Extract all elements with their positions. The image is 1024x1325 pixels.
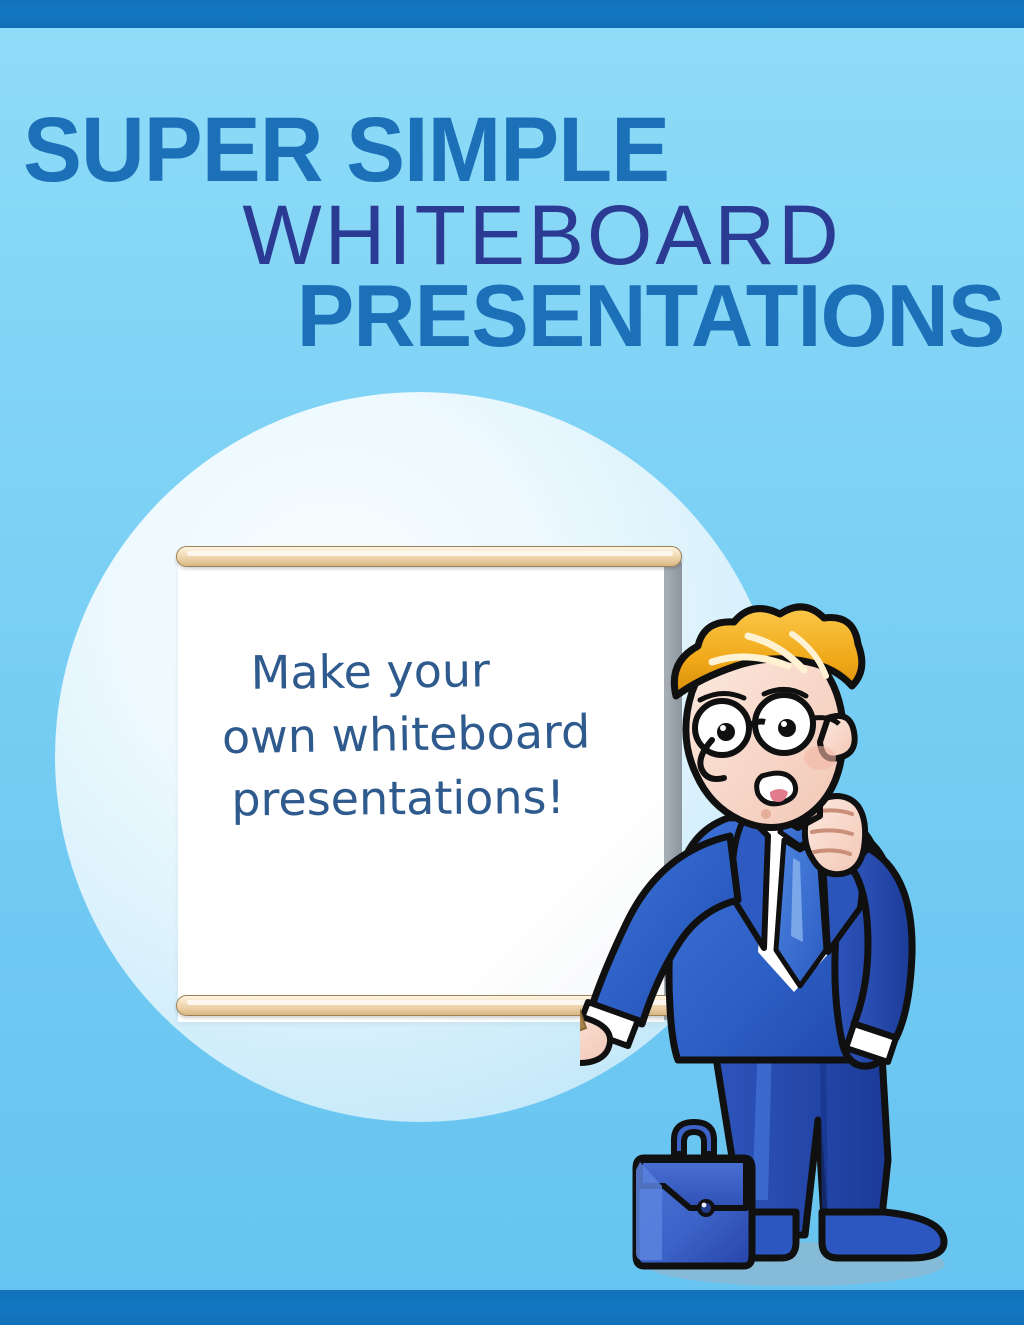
shoe-right [822, 1212, 944, 1258]
handwriting-line-2: own whiteboard [222, 700, 623, 770]
bottom-band [0, 1290, 1024, 1325]
title-line-whiteboard: WHITEBOARD [0, 197, 1024, 274]
eye-left-glint [720, 725, 726, 731]
briefcase-clasp-glint [702, 1203, 707, 1208]
handwriting-line-1: Make your [220, 638, 621, 706]
cover-title: SUPER SIMPLE WHITEBOARD PRESENTATIONS [0, 108, 1024, 357]
briefcase-handle [674, 1122, 714, 1154]
rail-highlight [187, 551, 673, 556]
pointer-stick [580, 600, 586, 1034]
cheek-blush [804, 746, 836, 770]
briefcase-clasp [699, 1201, 713, 1215]
title-line-presentations: PRESENTATIONS [20, 276, 1024, 357]
title-line-super-simple: SUPER SIMPLE [0, 108, 983, 193]
whiteboard-handwriting: Make your own whiteboard presentations! [220, 636, 624, 835]
chin-dimple [761, 809, 771, 819]
handwriting-line-3: presentations! [223, 766, 623, 832]
top-band [0, 0, 1024, 28]
cover-page: SUPER SIMPLE WHITEBOARD PRESENTATIONS Ma… [0, 0, 1024, 1325]
eye-left-pupil [717, 723, 735, 741]
briefcase [618, 1110, 768, 1275]
eye-right-glint [781, 721, 787, 727]
whiteboard-top-rail [176, 546, 682, 567]
eye-right-pupil [778, 719, 796, 737]
